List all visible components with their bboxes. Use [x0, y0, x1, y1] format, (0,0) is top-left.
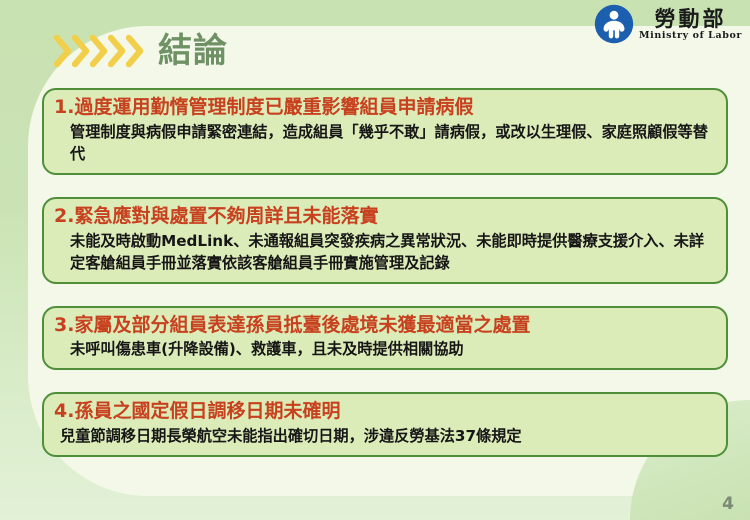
page-title: 結論	[158, 34, 228, 68]
chevron-right-icon	[72, 34, 91, 68]
chevron-right-icon	[126, 34, 145, 68]
list-item: 4.孫員之國定假日調移日期未確明 兒童節調移日期長榮航空未能指出確切日期，涉違反…	[42, 392, 728, 457]
ministry-logo-text: 勞動部 Ministry of Labor	[639, 8, 742, 41]
list-item-heading: 1.過度運用勤惰管理制度已嚴重影響組員申請病假	[54, 96, 716, 120]
list-item-body: 兒童節調移日期長榮航空未能指出確切日期，涉違反勞基法37條規定	[54, 425, 716, 447]
ministry-name-cn: 勞動部	[655, 8, 727, 29]
chevron-right-icon	[108, 34, 127, 68]
list-item-body: 管理制度與病假申請緊密連結，造成組員「幾乎不敢」請病假，或改以生理假、家庭照顧假…	[54, 121, 716, 165]
ministry-of-labor-emblem-icon	[594, 4, 634, 44]
list-item-body: 未呼叫傷患車(升降設備)、救護車，且未及時提供相關協助	[54, 338, 716, 360]
slide: 勞動部 Ministry of Labor 結論 1.過度運用勤惰管理制度已嚴重…	[0, 0, 750, 520]
chevron-group	[54, 34, 144, 68]
list-item: 2.緊急應對與處置不夠周詳且未能落實 未能及時啟動MedLink、未通報組員突發…	[42, 197, 728, 284]
list-item-heading: 2.緊急應對與處置不夠周詳且未能落實	[54, 205, 716, 229]
chevron-right-icon	[54, 34, 73, 68]
conclusion-list: 1.過度運用勤惰管理制度已嚴重影響組員申請病假 管理制度與病假申請緊密連結，造成…	[42, 88, 728, 457]
ministry-logo: 勞動部 Ministry of Labor	[594, 4, 742, 44]
slide-title-row: 結論	[54, 34, 228, 68]
list-item: 1.過度運用勤惰管理制度已嚴重影響組員申請病假 管理制度與病假申請緊密連結，造成…	[42, 88, 728, 175]
page-number: 4	[722, 494, 734, 514]
chevron-right-icon	[90, 34, 109, 68]
list-item-heading: 3.家屬及部分組員表達孫員抵臺後處境未獲最適當之處置	[54, 314, 716, 338]
list-item-body: 未能及時啟動MedLink、未通報組員突發疾病之異常狀況、未能即時提供醫療支援介…	[54, 230, 716, 274]
ministry-name-en: Ministry of Labor	[639, 31, 742, 41]
list-item: 3.家屬及部分組員表達孫員抵臺後處境未獲最適當之處置 未呼叫傷患車(升降設備)、…	[42, 306, 728, 371]
list-item-heading: 4.孫員之國定假日調移日期未確明	[54, 400, 716, 424]
